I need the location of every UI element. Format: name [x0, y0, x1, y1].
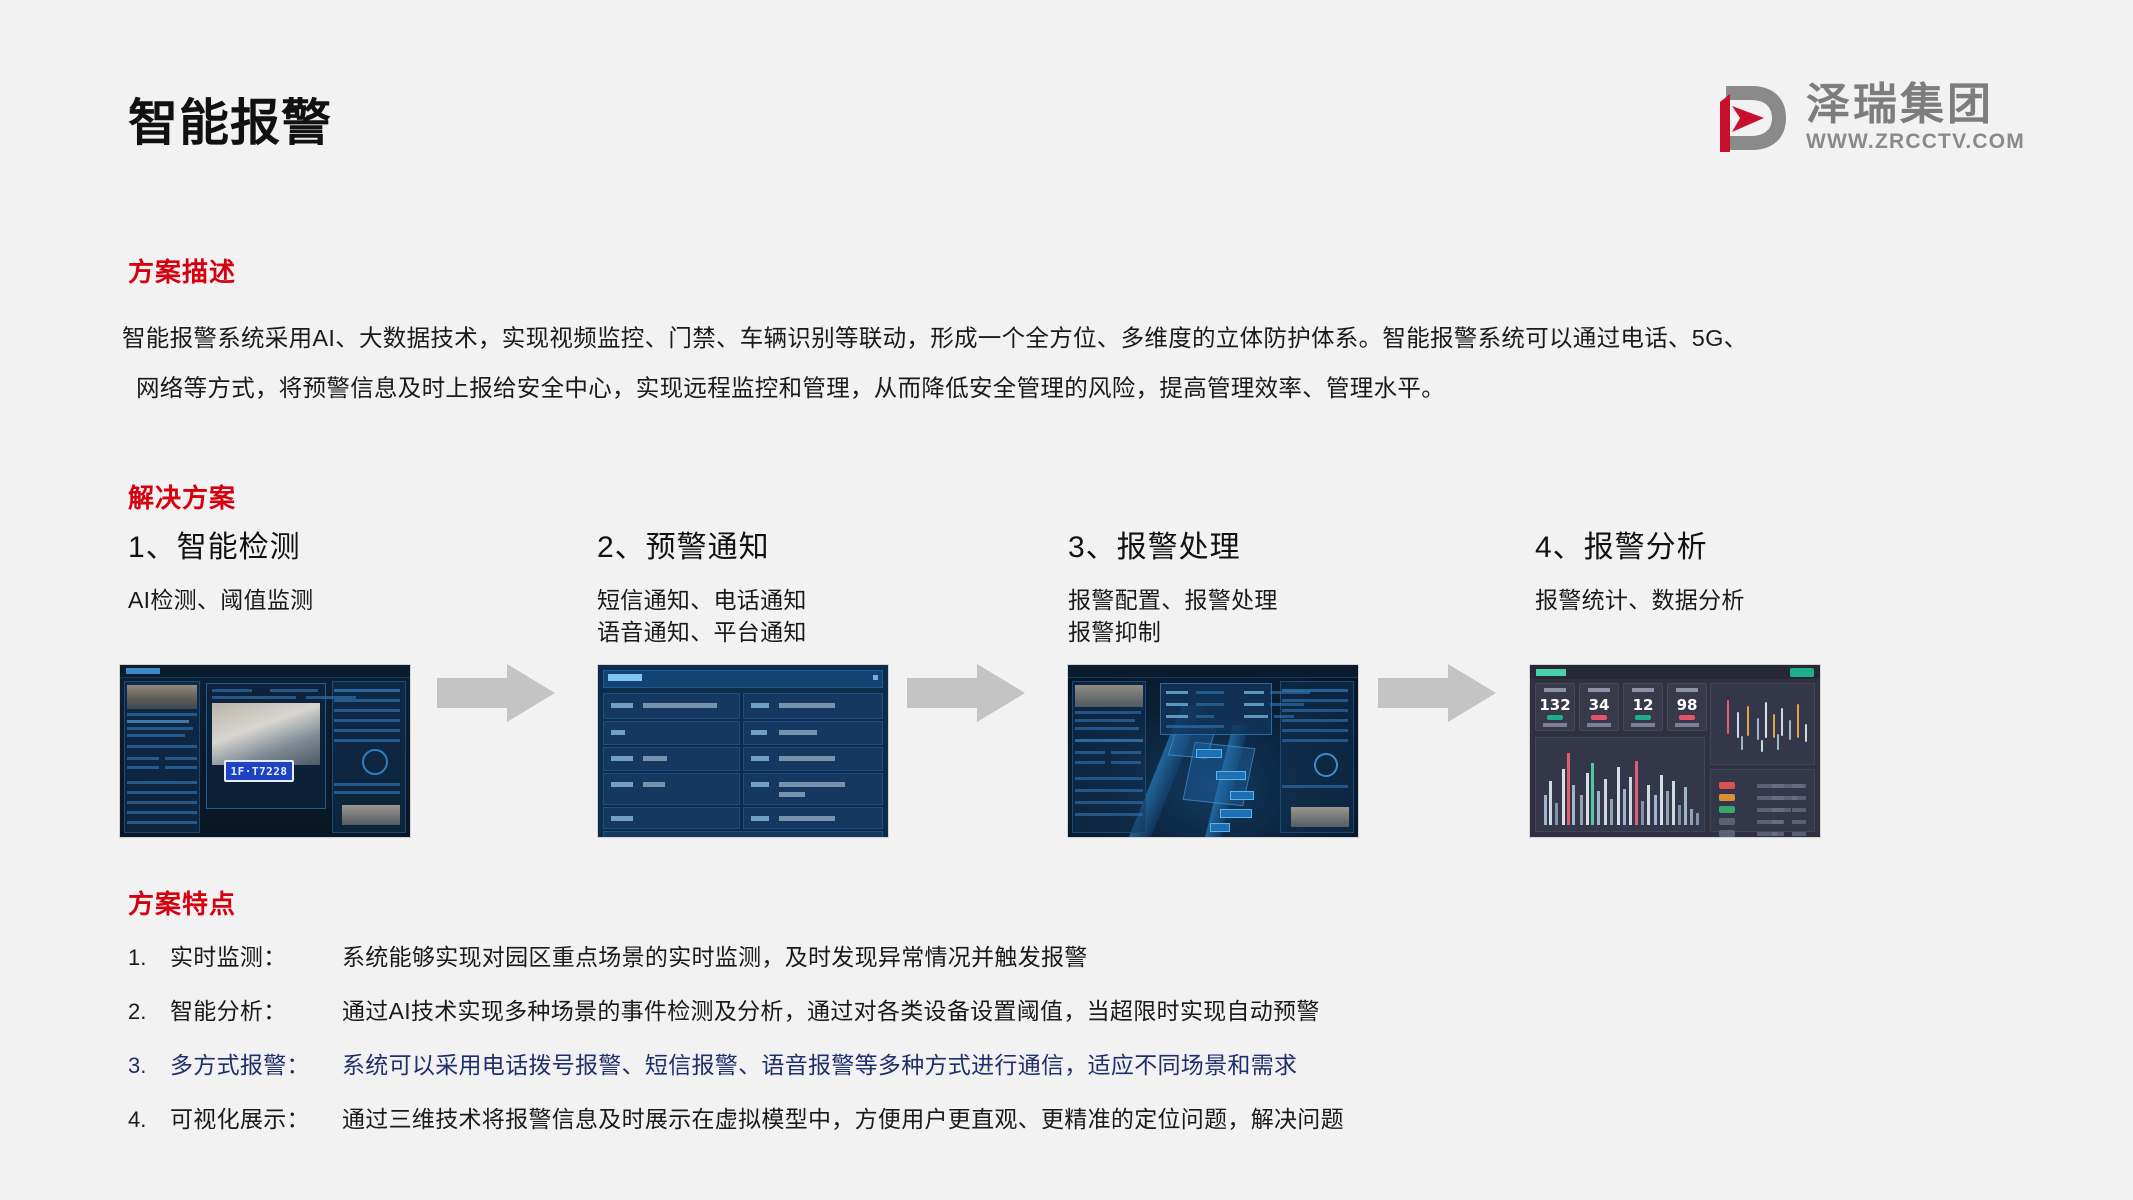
section-heading-description: 方案描述 — [128, 252, 236, 289]
step-4-subtitle: 报警统计、数据分析 — [1535, 584, 1965, 616]
step-1: 1、智能检测 AI检测、阈值监测 — [128, 530, 558, 616]
step-2-sub-line-1: 短信通知、电话通知 — [597, 584, 1027, 616]
feature-1-key: 实时监测： — [170, 938, 342, 972]
feature-3-text: 系统可以采用电话拨号报警、短信报警、语音报警等多种方式进行通信，适应不同场景和需… — [342, 1046, 1297, 1080]
step-2-title: 2、预警通知 — [597, 530, 1027, 566]
step-2-sub-line-2: 语音通知、平台通知 — [597, 616, 1027, 648]
arrow-connector-1-icon — [437, 664, 555, 722]
step-2-screenshot — [598, 665, 888, 837]
feature-4-key: 可视化展示： — [170, 1100, 342, 1134]
feature-3-number: 3. — [128, 1053, 170, 1079]
arrow-connector-3-icon — [1378, 664, 1496, 722]
feature-3-key: 多方式报警： — [170, 1046, 342, 1080]
step-4-sub-line-1: 报警统计、数据分析 — [1535, 584, 1965, 616]
feature-item-2: 2. 智能分析： 通过AI技术实现多种场景的事件检测及分析，通过对各类设备设置阈… — [128, 992, 2028, 1046]
feature-1-number: 1. — [128, 945, 170, 971]
step-1-subtitle: AI检测、阈值监测 — [128, 584, 558, 616]
kpi-value-3: 12 — [1624, 696, 1662, 714]
kpi-value-4: 98 — [1668, 696, 1706, 714]
feature-item-1: 1. 实时监测： 系统能够实现对园区重点场景的实时监测，及时发现异常情况并触发报… — [128, 938, 2028, 992]
step-1-title: 1、智能检测 — [128, 530, 558, 566]
description-line-2: 网络等方式，将预警信息及时上报给安全中心，实现远程监控和管理，从而降低安全管理的… — [122, 363, 2022, 413]
section-heading-features: 方案特点 — [128, 884, 236, 921]
step-3-title: 3、报警处理 — [1068, 530, 1498, 566]
ranking-list — [1710, 769, 1815, 832]
step-3: 3、报警处理 报警配置、报警处理 报警抑制 — [1068, 530, 1498, 648]
section-heading-solution: 解决方案 — [128, 478, 236, 515]
page-title: 智能报警 — [128, 98, 332, 148]
description-paragraph: 智能报警系统采用AI、大数据技术，实现视频监控、门禁、车辆识别等联动，形成一个全… — [122, 313, 2022, 413]
step-3-sub-line-1: 报警配置、报警处理 — [1068, 584, 1498, 616]
step-2-subtitle: 短信通知、电话通知 语音通知、平台通知 — [597, 584, 1027, 648]
arrow-connector-2-icon — [907, 664, 1025, 722]
feature-4-text: 通过三维技术将报警信息及时展示在虚拟模型中，方便用户更直观、更精准的定位问题，解… — [342, 1100, 1344, 1134]
step-1-screenshot: 1F·T7228 — [120, 665, 410, 837]
distribution-chart — [1710, 683, 1815, 765]
feature-item-4: 4. 可视化展示： 通过三维技术将报警信息及时展示在虚拟模型中，方便用户更直观、… — [128, 1100, 2028, 1154]
step-4-title: 4、报警分析 — [1535, 530, 1965, 566]
feature-4-number: 4. — [128, 1107, 170, 1133]
description-line-1: 智能报警系统采用AI、大数据技术，实现视频监控、门禁、车辆识别等联动，形成一个全… — [122, 313, 2022, 363]
kpi-value-2: 34 — [1580, 696, 1618, 714]
feature-list: 1. 实时监测： 系统能够实现对园区重点场景的实时监测，及时发现异常情况并触发报… — [128, 938, 2028, 1154]
step-4-screenshot: 132 34 12 98 — [1530, 665, 1820, 837]
thumb4-header-button — [1790, 668, 1814, 677]
feature-2-key: 智能分析： — [170, 992, 342, 1026]
step-3-screenshot — [1068, 665, 1358, 837]
logo-text: 泽瑞集团 WWW.ZRCCTV.COM — [1806, 82, 2025, 154]
license-plate-value: 1F·T7228 — [224, 760, 294, 782]
feature-2-text: 通过AI技术实现多种场景的事件检测及分析，通过对各类设备设置阈值，当超限时实现自… — [342, 992, 1320, 1026]
kpi-value-1: 132 — [1536, 696, 1574, 714]
step-3-sub-line-2: 报警抑制 — [1068, 616, 1498, 648]
feature-item-3: 3. 多方式报警： 系统可以采用电话拨号报警、短信报警、语音报警等多种方式进行通… — [128, 1046, 2028, 1100]
feature-2-number: 2. — [128, 999, 170, 1025]
logo-website-url: WWW.ZRCCTV.COM — [1806, 130, 2025, 154]
bar-chart — [1535, 737, 1705, 832]
step-3-subtitle: 报警配置、报警处理 报警抑制 — [1068, 584, 1498, 648]
step-1-sub-line-1: AI检测、阈值监测 — [128, 584, 558, 616]
slide-root: 智能报警 泽瑞集团 WWW.ZRCCTV.COM 方案描述 智能报警系统采用AI… — [0, 0, 2133, 1200]
logo-mark-icon — [1708, 80, 1792, 156]
company-logo: 泽瑞集团 WWW.ZRCCTV.COM — [1708, 80, 2025, 156]
step-4: 4、报警分析 报警统计、数据分析 — [1535, 530, 1965, 616]
feature-1-text: 系统能够实现对园区重点场景的实时监测，及时发现异常情况并触发报警 — [342, 938, 1088, 972]
step-2: 2、预警通知 短信通知、电话通知 语音通知、平台通知 — [597, 530, 1027, 648]
logo-company-name: 泽瑞集团 — [1806, 82, 2025, 128]
